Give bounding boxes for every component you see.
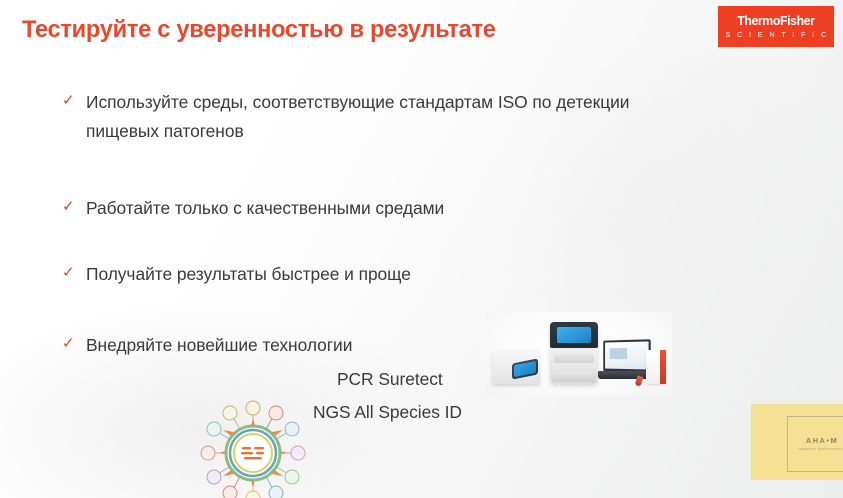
bullet-text-4: Внедряйте новейшие технологии (86, 331, 352, 360)
partner-logo-submark: пищевая безопасность (794, 447, 843, 451)
check-icon: ✓ (62, 260, 86, 280)
instrument-touchscreen-icon (550, 322, 598, 348)
bullet-text-1: Используйте среды, соответствующие станд… (86, 88, 686, 146)
cycler-touchscreen-icon (512, 358, 538, 379)
laptop-screen (603, 339, 650, 372)
bullet-item-2: ✓ Работайте только с качественными среда… (62, 194, 444, 223)
page-title: Тестируйте с уверенностью в результате (22, 16, 496, 44)
logo-tagline: S C I E N T I F I C (723, 31, 828, 38)
check-icon: ✓ (62, 331, 86, 351)
check-icon: ✓ (62, 194, 86, 214)
partner-logo-panel: АНА•М пищевая безопасность (751, 404, 843, 480)
circular-infographic (198, 398, 308, 498)
pcr-instrument-photo (486, 312, 672, 396)
reagent-kit-box (646, 350, 666, 384)
instrument-drawer (554, 354, 594, 363)
bullet-item-1: ✓ Используйте среды, соответствующие ста… (62, 88, 686, 146)
partner-logo-mark: АНА•М (794, 436, 843, 445)
benchtop-cycler-icon (492, 350, 540, 384)
quantstudio-instrument-icon (550, 322, 598, 384)
bullet-item-3: ✓ Получайте результаты быстрее и проще (62, 260, 411, 289)
sub-item-ngs-all-species-id: NGS All Species ID (313, 404, 462, 421)
bullet-item-4: ✓ Внедряйте новейшие технологии (62, 331, 352, 360)
sub-item-pcr-suretect: PCR Suretect (337, 371, 443, 388)
slide-canvas: Тестируйте с уверенностью в результате T… (0, 0, 843, 498)
bullet-text-3: Получайте результаты быстрее и проще (86, 260, 411, 289)
logo-wordmark: ThermoFisher (737, 15, 814, 28)
thermofisher-logo: ThermoFisher S C I E N T I F I C (718, 6, 834, 47)
check-icon: ✓ (62, 88, 86, 108)
partner-logo-frame: АНА•М пищевая безопасность (787, 416, 843, 472)
bullet-text-2: Работайте только с качественными средами (86, 194, 444, 223)
instrument-base (552, 375, 596, 382)
